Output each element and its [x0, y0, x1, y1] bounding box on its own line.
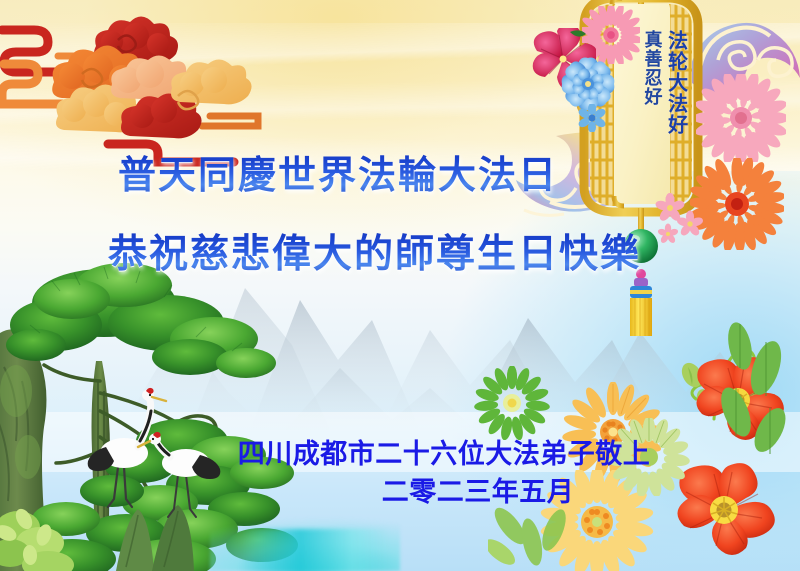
headline-line-2: 恭祝慈悲偉大的師尊生日快樂 [0, 223, 800, 279]
peony-blue-small-icon [578, 104, 606, 132]
signature-line-1: 四川成都市二十六位大法弟子敬上 [0, 432, 800, 471]
chrysanthemum-green-icon [474, 366, 550, 440]
greeting-card: 法轮大法好 真善忍好 [0, 0, 800, 571]
water-highlight [240, 529, 390, 571]
signature-line-2: 二零二三年五月 [0, 470, 800, 509]
headline-block: 普天同慶世界法輪大法日 恭祝慈悲偉大的師尊生日快樂 [0, 144, 800, 279]
headline-line-1: 普天同慶世界法輪大法日 [0, 144, 800, 199]
